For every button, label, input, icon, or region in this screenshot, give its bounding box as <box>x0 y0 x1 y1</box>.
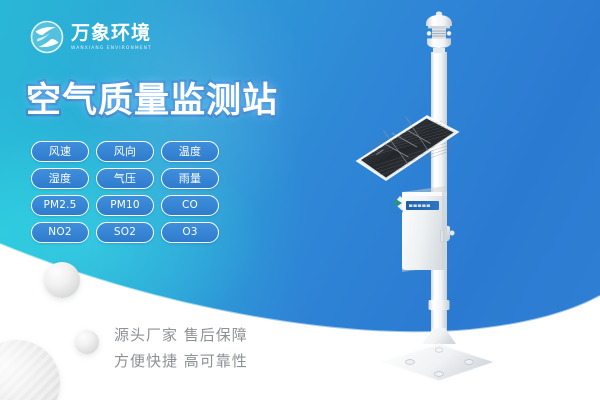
slogan-line-1: 源头厂家 售后保障 <box>114 322 248 348</box>
ultrasonic-weather-sensor <box>426 11 452 53</box>
decorative-sphere <box>44 262 80 298</box>
base-mounting-plate <box>383 328 495 381</box>
tag-pill[interactable]: 气压 <box>96 168 154 189</box>
brand-name-en: WANXIANG ENVIRONMENT <box>71 46 154 50</box>
tag-pill[interactable]: 温度 <box>161 141 219 162</box>
tag-pill[interactable]: NO2 <box>31 222 89 243</box>
box-label <box>406 201 439 210</box>
slogan-block: 源头厂家 售后保障 方便快捷 高可靠性 <box>114 322 248 374</box>
measurement-tag-grid: 风速 风向 温度 湿度 气压 雨量 PM2.5 PM10 CO NO2 SO2 … <box>31 141 219 243</box>
tag-pill[interactable]: PM2.5 <box>31 195 89 216</box>
tag-pill[interactable]: PM10 <box>96 195 154 216</box>
globe-swoosh-logo-icon <box>30 20 64 54</box>
product-illustration <box>330 0 600 400</box>
product-banner: 万象环境 WANXIANG ENVIRONMENT 空气质量监测站 风速 风向 … <box>0 0 600 400</box>
brand-logo[interactable]: 万象环境 WANXIANG ENVIRONMENT <box>30 20 151 54</box>
decorative-sphere <box>75 330 99 354</box>
tag-pill[interactable]: 雨量 <box>161 168 219 189</box>
page-title: 空气质量监测站 <box>26 72 278 123</box>
tag-pill[interactable]: 湿度 <box>31 168 89 189</box>
brand-name-cn: 万象环境 <box>71 24 151 43</box>
slogan-line-2: 方便快捷 高可靠性 <box>114 348 248 374</box>
tag-pill[interactable]: 风向 <box>96 141 154 162</box>
tag-pill[interactable]: CO <box>161 195 219 216</box>
tag-pill[interactable]: 风速 <box>31 141 89 162</box>
tag-pill[interactable]: O3 <box>161 222 219 243</box>
tag-pill[interactable]: SO2 <box>96 222 154 243</box>
